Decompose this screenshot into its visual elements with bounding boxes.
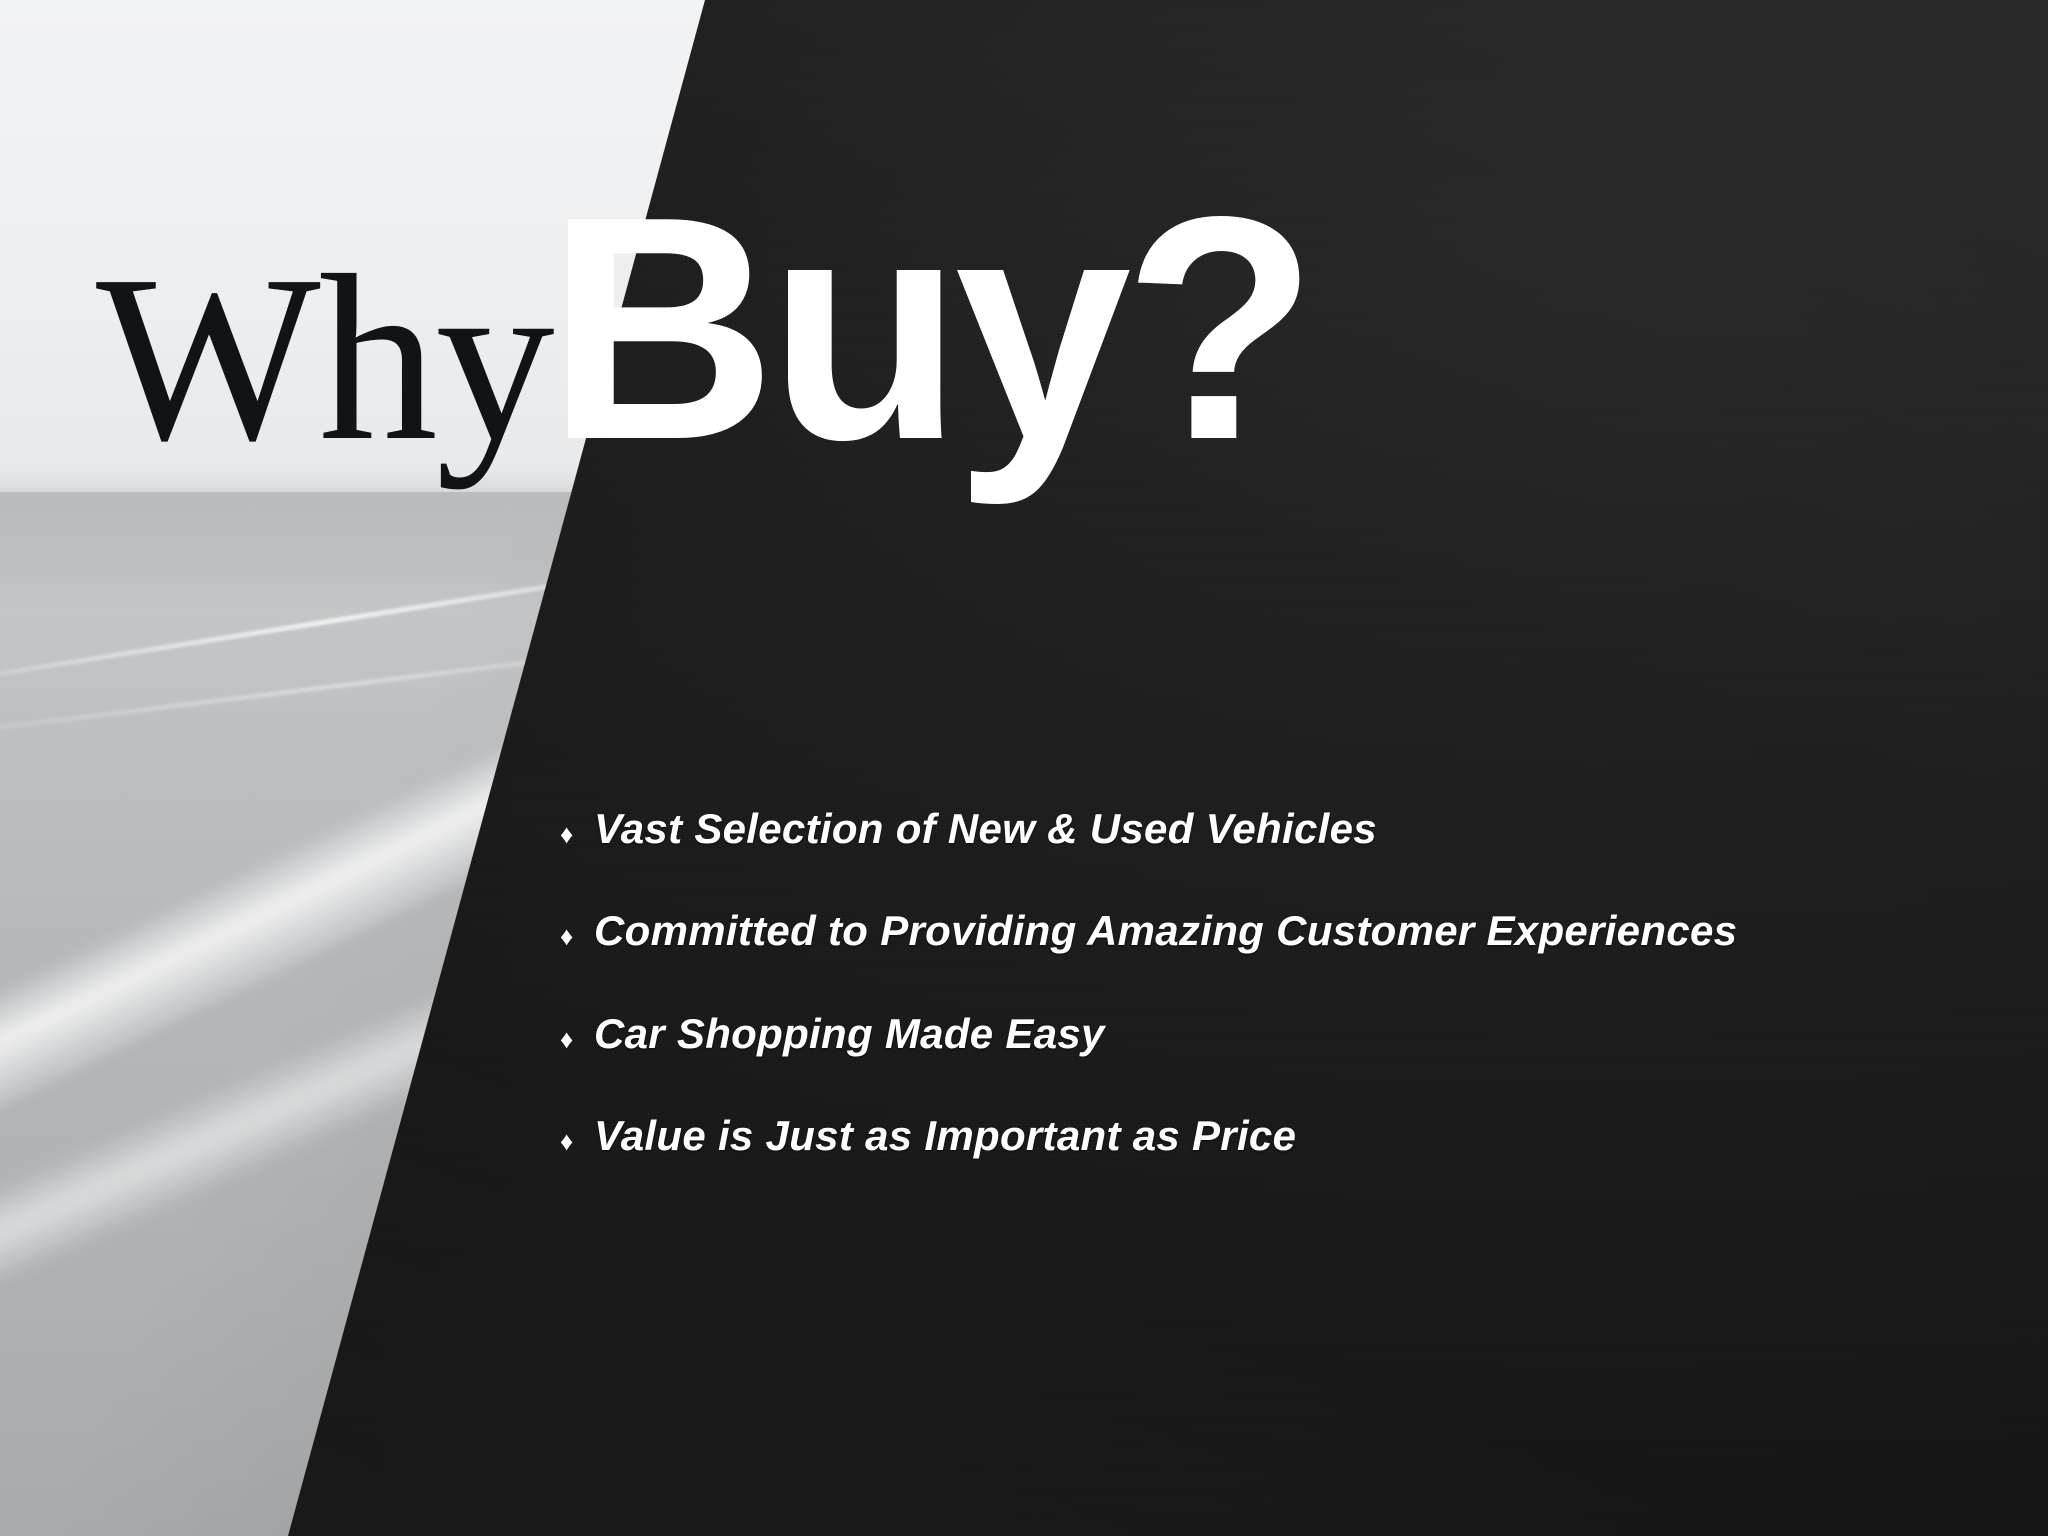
list-item: ♦ Committed to Providing Amazing Custome… [560,907,1980,955]
benefits-bullet-list: ♦ Vast Selection of New & Used Vehicles … [560,805,1980,1160]
slide-canvas: Why Buy? ♦ Vast Selection of New & Used … [0,0,2048,1536]
list-item: ♦ Car Shopping Made Easy [560,1010,1980,1058]
list-item-label: Vast Selection of New & Used Vehicles [594,805,1377,853]
list-item: ♦ Vast Selection of New & Used Vehicles [560,805,1980,853]
diamond-bullet-icon: ♦ [560,1026,594,1052]
title-word-why: Why [96,240,553,478]
list-item-label: Committed to Providing Amazing Customer … [594,907,1737,955]
diamond-bullet-icon: ♦ [560,1128,594,1154]
title-word-buy: Buy? [547,170,1310,488]
list-item-label: Car Shopping Made Easy [594,1010,1105,1058]
diamond-bullet-icon: ♦ [560,821,594,847]
page-title: Why Buy? [96,170,1310,488]
list-item: ♦ Value is Just as Important as Price [560,1112,1980,1160]
diamond-bullet-icon: ♦ [560,923,594,949]
list-item-label: Value is Just as Important as Price [594,1112,1296,1160]
